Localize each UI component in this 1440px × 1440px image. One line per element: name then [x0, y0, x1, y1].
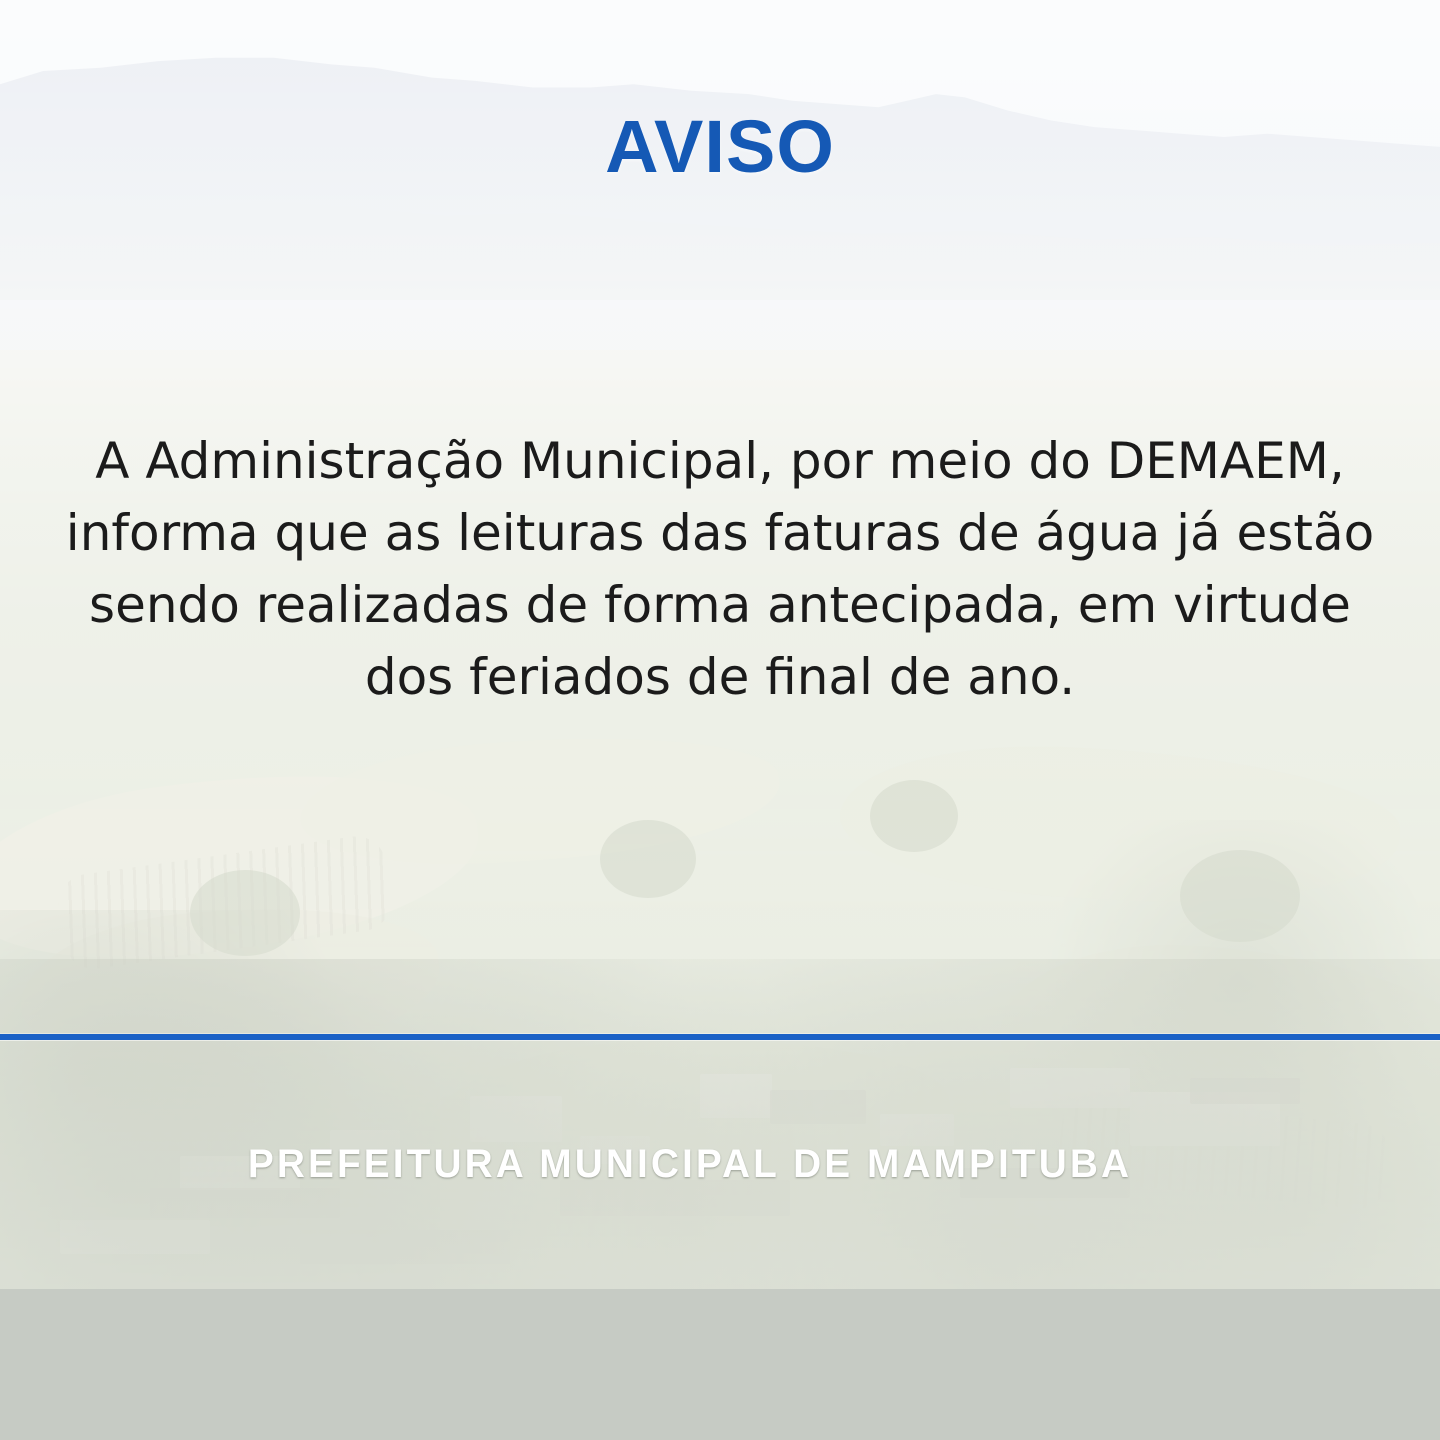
aviso-poster: AVISO A Administração Municipal, por mei… [0, 0, 1440, 1440]
organization-name: PREFEITURA MUNICIPAL DE MAMPITUBA [239, 1142, 1141, 1187]
announcement-text: A Administração Municipal, por meio do D… [60, 425, 1380, 713]
announcement-line: sendo realizadas de forma antecipada, em… [60, 569, 1380, 641]
footer: PREFEITURA MUNICIPAL DE MAMPITUBA [0, 1130, 1440, 1240]
blue-divider [0, 1034, 1440, 1040]
bottom-grey-band [0, 1289, 1440, 1440]
announcement-line: A Administração Municipal, por meio do D… [60, 425, 1380, 497]
page-title: AVISO [0, 104, 1440, 189]
announcement-line: dos feriados de final de ano. [60, 641, 1380, 713]
announcement-line: informa que as leituras das faturas de á… [60, 497, 1380, 569]
